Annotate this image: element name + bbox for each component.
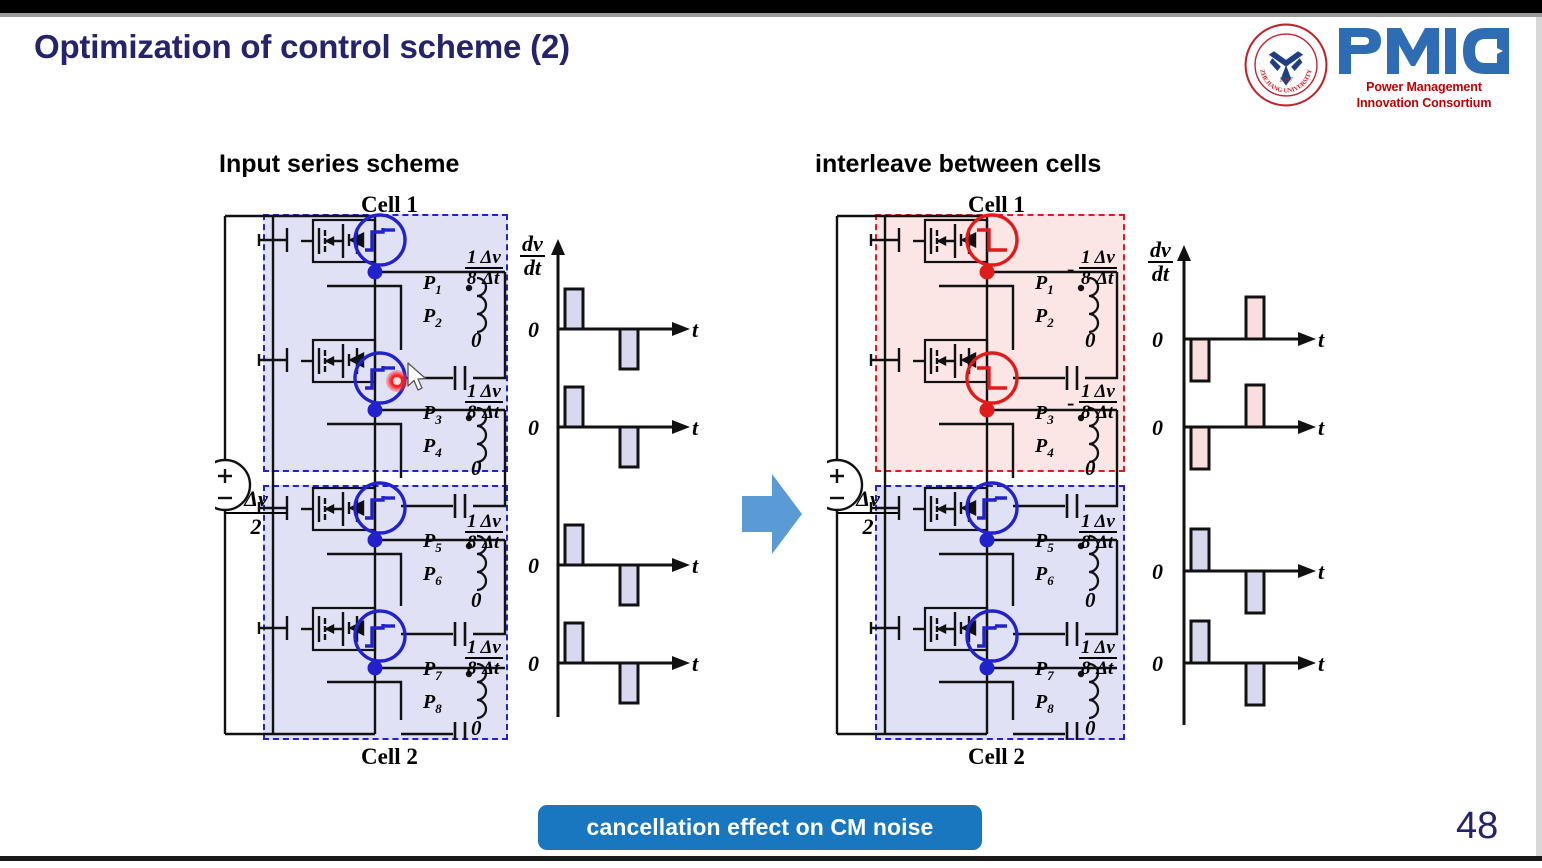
logo-group: 1897 ZHEJIANG UNIVERSITY Power Managemen… xyxy=(1243,20,1513,120)
right-edge-shadow xyxy=(1536,17,1542,856)
left-stage3-dvdt-label: 1 Δv 8 Δt xyxy=(465,512,503,552)
left-stage4-zero: 0 xyxy=(471,716,482,741)
right-plot3-xlabel: t xyxy=(1318,559,1324,585)
right-port-P3: P3 xyxy=(1035,402,1054,428)
bottom-divider xyxy=(0,856,1542,861)
right-plot1-xlabel: t xyxy=(1318,327,1324,353)
top-divider xyxy=(0,13,1542,17)
left-node-dot xyxy=(368,265,383,280)
right-port-P2: P2 xyxy=(1035,305,1054,331)
left-port-P7: P7 xyxy=(423,658,442,684)
left-node-dot xyxy=(368,661,383,676)
left-plot2-zero: 0 xyxy=(528,415,539,441)
right-node-dot-blue xyxy=(980,661,995,676)
svg-text:1897: 1897 xyxy=(1279,77,1293,84)
right-arrow-icon xyxy=(742,470,804,558)
right-port-P1: P1 xyxy=(1035,272,1054,298)
right-node-dot-red xyxy=(980,403,995,418)
left-port-P4: P4 xyxy=(423,435,442,461)
left-stage2-dvdt-label: 1 Δv 8 Δt xyxy=(465,382,503,422)
right-node-dot-red xyxy=(980,265,995,280)
right-plot-2 xyxy=(1184,385,1316,469)
left-plot3-xlabel: t xyxy=(692,553,698,579)
pmic-logo: Power Management Innovation Consortium xyxy=(1335,24,1513,116)
left-stage1-dvdt-label: 1 Δv 8 Δt xyxy=(465,248,503,288)
right-plot1-zero: 0 xyxy=(1152,327,1163,353)
left-node-dot xyxy=(368,403,383,418)
right-plot2-xlabel: t xyxy=(1318,415,1324,441)
left-port-P2: P2 xyxy=(423,305,442,331)
right-waveform-chart: dv dt xyxy=(1140,225,1340,725)
page-number: 48 xyxy=(1456,805,1498,848)
right-port-P6: P6 xyxy=(1035,563,1054,589)
left-plot3-zero: 0 xyxy=(528,553,539,579)
left-plot-4 xyxy=(558,623,690,703)
pmic-tagline-line1: Power Management xyxy=(1335,80,1513,94)
pmic-tagline-line2: Innovation Consortium xyxy=(1335,96,1513,110)
right-source-label: Δv 2 xyxy=(837,486,899,540)
right-stage4-dvdt-label: 1 Δv 8 Δt xyxy=(1079,638,1117,678)
right-scheme-heading: interleave between cells xyxy=(815,150,1101,179)
right-circuit-diagram: Δv 2 P1 P2 P3 P4 P5 P6 P7 P8 - 1 Δv 8 Δt… xyxy=(827,210,1127,735)
right-stage3-dvdt-label: 1 Δv 8 Δt xyxy=(1079,512,1117,552)
right-port-P4: P4 xyxy=(1035,435,1054,461)
right-stage3-zero: 0 xyxy=(1085,588,1096,613)
left-plot1-zero: 0 xyxy=(528,317,539,343)
left-stage2-zero: 0 xyxy=(471,456,482,481)
left-waveform-svg xyxy=(520,225,710,725)
mouse-pointer-icon xyxy=(406,362,428,392)
click-marker-icon xyxy=(386,370,408,392)
left-port-P3: P3 xyxy=(423,402,442,428)
left-plot4-xlabel: t xyxy=(692,651,698,677)
right-plot-1 xyxy=(1184,297,1316,381)
right-cell2-label: Cell 2 xyxy=(968,744,1025,770)
right-stage2-dvdt-label: 1 Δv 8 Δt xyxy=(1079,382,1117,422)
left-node-dot xyxy=(368,533,383,548)
right-stage2-sign: - xyxy=(1067,390,1074,416)
pmic-wordmark-icon xyxy=(1335,24,1513,78)
left-scheme-heading: Input series scheme xyxy=(219,150,459,179)
left-port-P1: P1 xyxy=(423,272,442,298)
right-stage1-sign: - xyxy=(1067,256,1074,282)
right-port-P7: P7 xyxy=(1035,658,1054,684)
right-stage1-dvdt-label: 1 Δv 8 Δt xyxy=(1079,248,1117,288)
page-title: Optimization of control scheme (2) xyxy=(34,28,570,66)
left-plot-3 xyxy=(558,525,690,605)
right-plot-4 xyxy=(1184,621,1316,705)
window-top-bar xyxy=(0,0,1542,13)
right-port-P5: P5 xyxy=(1035,530,1054,556)
left-cell2-label: Cell 2 xyxy=(361,744,418,770)
right-port-P8: P8 xyxy=(1035,691,1054,717)
left-stage3-zero: 0 xyxy=(471,588,482,613)
right-plot-3 xyxy=(1184,529,1316,613)
left-waveform-source-icon xyxy=(355,611,405,661)
right-node-dot-blue xyxy=(980,533,995,548)
left-stage4-dvdt-label: 1 Δv 8 Δt xyxy=(465,638,503,678)
left-plot-1 xyxy=(558,289,690,369)
right-stage2-zero: 0 xyxy=(1085,456,1096,481)
right-plot3-zero: 0 xyxy=(1152,559,1163,585)
right-plot4-xlabel: t xyxy=(1318,651,1324,677)
left-port-P5: P5 xyxy=(423,530,442,556)
right-waveform-svg xyxy=(1140,225,1340,725)
left-source-label: Δv 2 xyxy=(225,486,287,540)
left-plot1-xlabel: t xyxy=(692,317,698,343)
conclusion-banner: cancellation effect on CM noise xyxy=(538,805,982,850)
left-port-P6: P6 xyxy=(423,563,442,589)
right-waveform-source-icon xyxy=(967,611,1017,661)
right-plot4-zero: 0 xyxy=(1152,651,1163,677)
zhejiang-university-seal-icon: 1897 ZHEJIANG UNIVERSITY xyxy=(1243,22,1329,108)
left-port-P8: P8 xyxy=(423,691,442,717)
left-plot2-xlabel: t xyxy=(692,415,698,441)
left-plot-2 xyxy=(558,387,690,467)
left-stage1-zero: 0 xyxy=(471,328,482,353)
left-plot4-zero: 0 xyxy=(528,651,539,677)
left-circuit-diagram: Δv 2 P1 P2 P3 P4 P5 P6 P7 P8 1 Δv 8 Δt 0… xyxy=(215,210,515,735)
left-waveform-chart: dv dt xyxy=(520,225,710,725)
right-stage4-zero: 0 xyxy=(1085,716,1096,741)
right-plot2-zero: 0 xyxy=(1152,415,1163,441)
right-stage1-zero: 0 xyxy=(1085,328,1096,353)
right-waveform-source-inverted-icon xyxy=(967,353,1017,403)
